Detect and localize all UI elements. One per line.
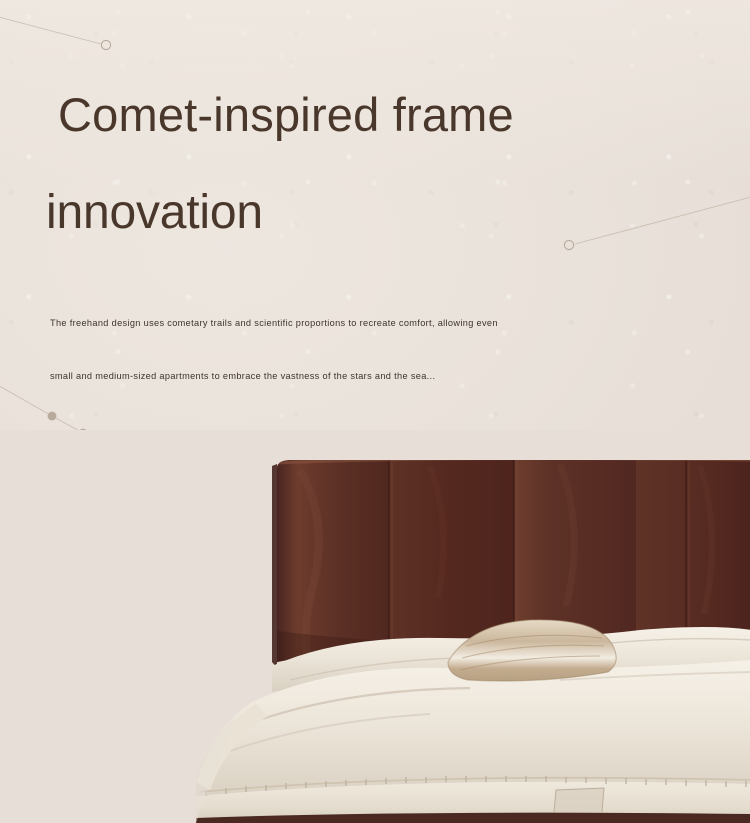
bed-illustration: [0, 430, 750, 823]
page-title-line-1: Comet-inspired frame: [58, 88, 750, 142]
constellation-node-top-left: [101, 40, 110, 49]
description-line-1: The freehand design uses cometary trails…: [50, 316, 498, 330]
constellation-node-right: [564, 240, 573, 249]
headboard-frame-edge: [272, 464, 277, 668]
page-title-line-2: innovation: [46, 186, 750, 240]
description-line-2: small and medium-sized apartments to emb…: [50, 369, 435, 383]
product-photo: [0, 430, 750, 823]
comet-line-top-left: [0, 16, 101, 44]
product-banner: Comet-inspired frame innovation The free…: [0, 0, 750, 823]
base-panel-detail: [554, 788, 604, 812]
